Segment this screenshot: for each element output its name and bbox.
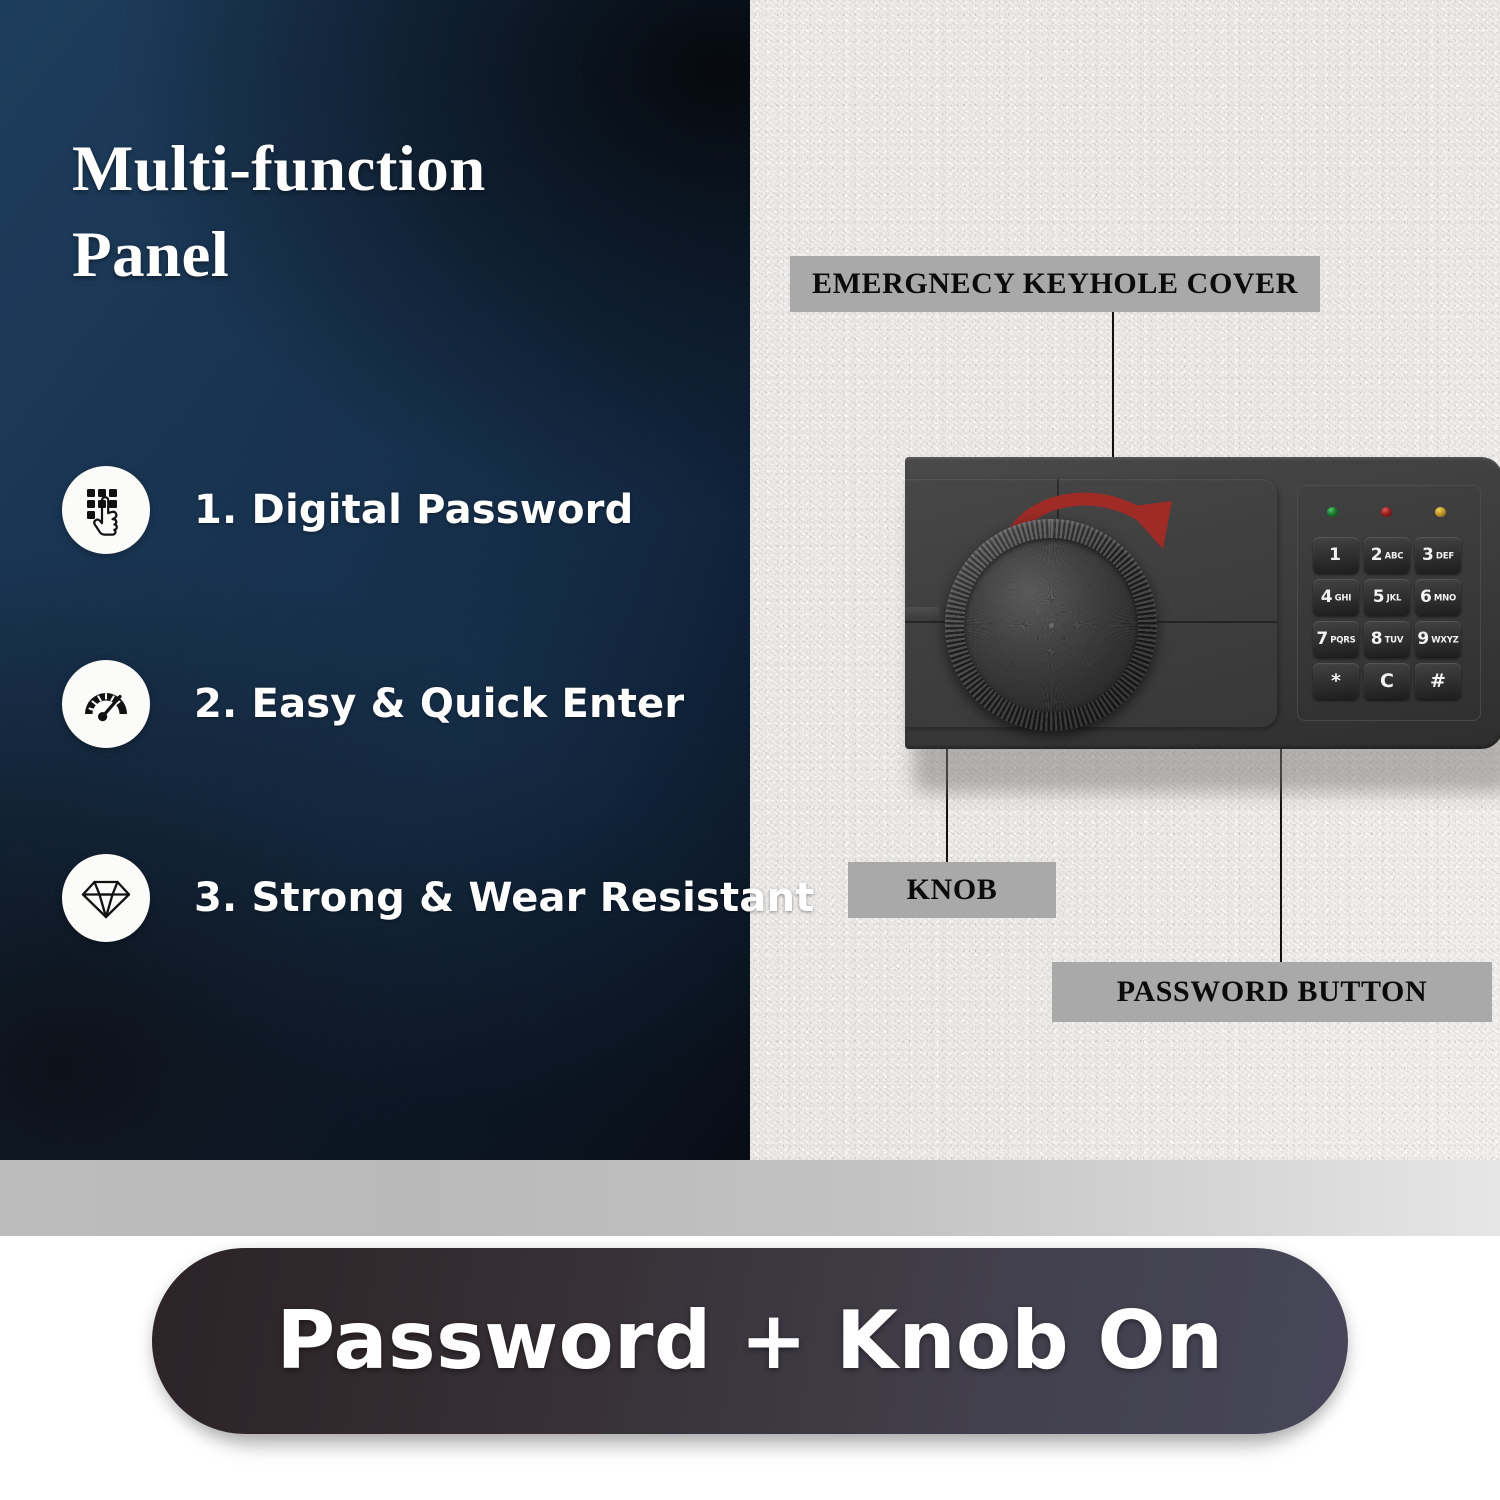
- feature-item-strong-wear-resistant: 3. Strong & Wear Resistant: [62, 838, 752, 958]
- bottom-section: Password + Knob On: [0, 1236, 1500, 1500]
- banner-pill: Password + Knob On: [152, 1248, 1348, 1434]
- feature-item-digital-password: 1. Digital Password: [62, 450, 752, 570]
- left-panel-content: Multi-function Panel: [0, 0, 1500, 1160]
- feature-list: 1. Digital Password: [62, 450, 752, 1032]
- keypad-finger-icon: [62, 466, 150, 554]
- feature-label: 2. Easy & Quick Enter: [194, 684, 684, 724]
- speedometer-icon: [62, 660, 150, 748]
- feature-label: 1. Digital Password: [194, 490, 633, 530]
- top-section: Multi-function Panel: [0, 0, 1500, 1160]
- page-title-line-1: Multi-function: [72, 126, 692, 212]
- feature-label: 3. Strong & Wear Resistant: [194, 878, 815, 918]
- gray-divider-band: [0, 1160, 1500, 1236]
- infographic-canvas: Multi-function Panel: [0, 0, 1500, 1500]
- banner-text: Password + Knob On: [276, 1301, 1223, 1381]
- diamond-icon: [62, 854, 150, 942]
- page-title: Multi-function Panel: [72, 126, 692, 299]
- page-title-line-2: Panel: [72, 212, 692, 298]
- feature-item-easy-quick-enter: 2. Easy & Quick Enter: [62, 644, 752, 764]
